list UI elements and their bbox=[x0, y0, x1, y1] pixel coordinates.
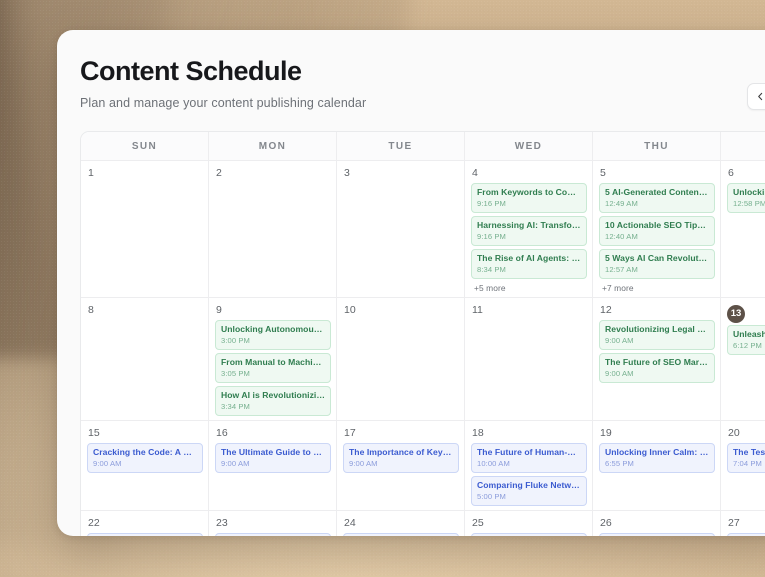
day-number: 10 bbox=[343, 303, 459, 317]
calendar-event[interactable]: Breaking Free from Bottlen...11:07 PM bbox=[471, 533, 587, 536]
header-text-group: Content Schedule Plan and manage your co… bbox=[80, 56, 366, 110]
event-time: 12:49 AM bbox=[605, 199, 709, 209]
calendar-day-cell-6[interactable]: 6Unlocking the Power of AI12:58 PM bbox=[721, 161, 765, 297]
calendar-event[interactable]: The Power of Multi-Target ...2:06 AM bbox=[599, 533, 715, 536]
day-number: 11 bbox=[471, 303, 587, 317]
calendar-day-cell-3[interactable]: 3 bbox=[337, 161, 465, 297]
day-events: The Future of Human-AI C...10:00 AMCompa… bbox=[471, 443, 587, 506]
calendar-weekday-header: SUNMONTUEWEDTHUFRISAT bbox=[81, 132, 765, 161]
calendar-event[interactable]: The Future of SEO Marketi...9:00 AM bbox=[599, 353, 715, 383]
event-title: Unlocking the Power of AI bbox=[733, 187, 765, 198]
calendar-day-cell-19[interactable]: 19Unlocking Inner Calm: How...6:55 PM bbox=[593, 421, 721, 510]
event-title: From Keywords to Context:... bbox=[477, 187, 581, 198]
calendar-day-cell-26[interactable]: 26The Power of Multi-Target ...2:06 AM bbox=[593, 511, 721, 536]
calendar-day-cell-18[interactable]: 18The Future of Human-AI C...10:00 AMCom… bbox=[465, 421, 593, 510]
weekday-header-fri: FRI bbox=[721, 132, 765, 160]
weekday-header-mon: MON bbox=[209, 132, 337, 160]
event-title: Cracking the Code: A Step... bbox=[93, 447, 197, 458]
calendar-event[interactable]: Unleashing the Future6:12 PM bbox=[727, 325, 765, 355]
day-number: 16 bbox=[215, 426, 331, 440]
calendar-day-cell-23[interactable]: 23Unraveling the Mystery of ...1:00 PM bbox=[209, 511, 337, 536]
day-number: 20 bbox=[727, 426, 765, 440]
day-events: 5 AI-Generated Content Ed...12:49 AM10 A… bbox=[599, 183, 715, 279]
day-events: The Importance of Keywor...9:00 AM bbox=[343, 443, 459, 473]
calendar-day-cell-10[interactable]: 10 bbox=[337, 298, 465, 420]
calendar-week-row: 1234From Keywords to Context:...9:16 PMH… bbox=[81, 161, 765, 298]
prev-month-button[interactable] bbox=[747, 83, 765, 110]
event-title: Harnessing AI: Transform Y... bbox=[477, 220, 581, 231]
event-title: 5 Ways AI Can Revolutioniz... bbox=[605, 253, 709, 264]
event-time: 9:16 PM bbox=[477, 232, 581, 242]
calendar-day-cell-4[interactable]: 4From Keywords to Context:...9:16 PMHarn… bbox=[465, 161, 593, 297]
event-title: The Test Pyramid bbox=[733, 447, 765, 458]
calendar-day-cell-24[interactable]: 2410 Essential SEO Metrics t...3:00 AM bbox=[337, 511, 465, 536]
chevron-left-icon bbox=[756, 92, 765, 101]
day-events: Revolutionizing Legal Work...9:00 AMThe … bbox=[599, 320, 715, 383]
calendar-event[interactable]: 5 Ways AI Can Revolutioniz...12:57 AM bbox=[599, 249, 715, 279]
day-events: Unlocking Inner Calm: How...6:55 PM bbox=[599, 443, 715, 473]
content-schedule-card: Content Schedule Plan and manage your co… bbox=[57, 30, 765, 536]
calendar-day-cell-12[interactable]: 12Revolutionizing Legal Work...9:00 AMTh… bbox=[593, 298, 721, 420]
event-title: The Importance of Keywor... bbox=[349, 447, 453, 458]
weekday-header-tue: TUE bbox=[337, 132, 465, 160]
event-time: 7:04 PM bbox=[733, 459, 765, 469]
event-time: 9:00 AM bbox=[93, 459, 197, 469]
event-title: Unlocking Autonomous Pot... bbox=[221, 324, 325, 335]
calendar-event[interactable]: 10 Essential SEO Metrics t...3:00 AM bbox=[343, 533, 459, 536]
day-number: 23 bbox=[215, 516, 331, 530]
more-events-link[interactable]: +5 more bbox=[471, 283, 587, 293]
day-number: 17 bbox=[343, 426, 459, 440]
day-events: Navigating the AI Marketin...9:00 AM bbox=[87, 533, 203, 536]
event-title: How AI is Revolutionizing V... bbox=[221, 390, 325, 401]
calendar-event[interactable]: The Importance of Keywor...9:00 AM bbox=[343, 443, 459, 473]
calendar-event[interactable]: The Test Pyramid7:04 PM bbox=[727, 443, 765, 473]
day-events: Unraveling the Mystery of ...1:00 PM bbox=[215, 533, 331, 536]
card-inner: Content Schedule Plan and manage your co… bbox=[57, 30, 765, 536]
more-events-link[interactable]: +7 more bbox=[599, 283, 715, 293]
calendar-day-cell-25[interactable]: 25Breaking Free from Bottlen...11:07 PM bbox=[465, 511, 593, 536]
calendar-day-cell-17[interactable]: 17The Importance of Keywor...9:00 AM bbox=[337, 421, 465, 510]
card-header: Content Schedule Plan and manage your co… bbox=[80, 56, 765, 110]
calendar-weeks: 1234From Keywords to Context:...9:16 PMH… bbox=[81, 161, 765, 536]
event-title: The Future of Human-AI C... bbox=[477, 447, 581, 458]
event-time: 9:00 AM bbox=[605, 336, 709, 346]
event-time: 9:00 AM bbox=[221, 459, 325, 469]
calendar-event[interactable]: 5 AI-Generated Content Ed...12:49 AM bbox=[599, 183, 715, 213]
event-title: The Rise of AI Agents: Red... bbox=[477, 253, 581, 264]
calendar-day-cell-27[interactable]: 27The Dark Side of AI12:58 AM bbox=[721, 511, 765, 536]
day-number: 27 bbox=[727, 516, 765, 530]
day-number: 1 bbox=[87, 166, 203, 180]
calendar-event[interactable]: Comparing Fluke Networks...5:00 PM bbox=[471, 476, 587, 506]
calendar-day-cell-5[interactable]: 55 AI-Generated Content Ed...12:49 AM10 … bbox=[593, 161, 721, 297]
event-time: 9:00 AM bbox=[349, 459, 453, 469]
calendar-event[interactable]: How AI is Revolutionizing V...3:34 PM bbox=[215, 386, 331, 416]
event-title: The Ultimate Guide to Calc... bbox=[221, 447, 325, 458]
calendar-week-row: 22Navigating the AI Marketin...9:00 AM23… bbox=[81, 511, 765, 536]
calendar-nav-buttons bbox=[747, 83, 765, 110]
day-number: 12 bbox=[599, 303, 715, 317]
day-number: 8 bbox=[87, 303, 203, 317]
day-events: Unlocking Autonomous Pot...3:00 PMFrom M… bbox=[215, 320, 331, 416]
calendar-day-cell-11[interactable]: 11 bbox=[465, 298, 593, 420]
calendar-event[interactable]: The Dark Side of AI12:58 AM bbox=[727, 533, 765, 536]
calendar-grid: SUNMONTUEWEDTHUFRISAT 1234From Keywords … bbox=[80, 131, 765, 536]
calendar-event[interactable]: Cracking the Code: A Step...9:00 AM bbox=[87, 443, 203, 473]
day-number: 2 bbox=[215, 166, 331, 180]
day-events: Cracking the Code: A Step...9:00 AM bbox=[87, 443, 203, 473]
calendar-day-cell-13[interactable]: 13Unleashing the Future6:12 PM bbox=[721, 298, 765, 420]
weekday-header-wed: WED bbox=[465, 132, 593, 160]
page-subtitle: Plan and manage your content publishing … bbox=[80, 96, 366, 110]
day-events: From Keywords to Context:...9:16 PMHarne… bbox=[471, 183, 587, 279]
event-title: Unleashing the Future bbox=[733, 329, 765, 340]
day-number: 19 bbox=[599, 426, 715, 440]
calendar-event[interactable]: Unlocking Inner Calm: How...6:55 PM bbox=[599, 443, 715, 473]
event-time: 6:55 PM bbox=[605, 459, 709, 469]
day-number: 9 bbox=[215, 303, 331, 317]
day-events: Breaking Free from Bottlen...11:07 PM bbox=[471, 533, 587, 536]
calendar-event[interactable]: The Ultimate Guide to Calc...9:00 AM bbox=[215, 443, 331, 473]
event-time: 12:40 AM bbox=[605, 232, 709, 242]
day-number: 5 bbox=[599, 166, 715, 180]
calendar-event[interactable]: Unlocking Autonomous Pot...3:00 PM bbox=[215, 320, 331, 350]
day-events: The Ultimate Guide to Calc...9:00 AM bbox=[215, 443, 331, 473]
day-number: 22 bbox=[87, 516, 203, 530]
event-time: 12:57 AM bbox=[605, 265, 709, 275]
day-number: 4 bbox=[471, 166, 587, 180]
calendar-day-cell-9[interactable]: 9Unlocking Autonomous Pot...3:00 PMFrom … bbox=[209, 298, 337, 420]
weekday-header-thu: THU bbox=[593, 132, 721, 160]
day-number: 3 bbox=[343, 166, 459, 180]
day-events: 10 Essential SEO Metrics t...3:00 AM bbox=[343, 533, 459, 536]
day-number: 6 bbox=[727, 166, 765, 180]
calendar-event[interactable]: From Keywords to Context:...9:16 PM bbox=[471, 183, 587, 213]
event-time: 6:12 PM bbox=[733, 341, 765, 351]
event-title: 5 AI-Generated Content Ed... bbox=[605, 187, 709, 198]
event-title: 10 Actionable SEO Tips for ... bbox=[605, 220, 709, 231]
event-title: From Manual to Machine: T... bbox=[221, 357, 325, 368]
event-time: 3:00 PM bbox=[221, 336, 325, 346]
day-number: 24 bbox=[343, 516, 459, 530]
calendar-day-cell-15[interactable]: 15Cracking the Code: A Step...9:00 AM bbox=[81, 421, 209, 510]
event-title: Comparing Fluke Networks... bbox=[477, 480, 581, 491]
day-events: Unleashing the Future6:12 PM bbox=[727, 325, 765, 355]
page-title: Content Schedule bbox=[80, 56, 366, 87]
calendar-event[interactable]: Unraveling the Mystery of ...1:00 PM bbox=[215, 533, 331, 536]
calendar-event[interactable]: The Future of Human-AI C...10:00 AM bbox=[471, 443, 587, 473]
event-time: 10:00 AM bbox=[477, 459, 581, 469]
calendar-day-cell-16[interactable]: 16The Ultimate Guide to Calc...9:00 AM bbox=[209, 421, 337, 510]
day-events: Unlocking the Power of AI12:58 PM bbox=[727, 183, 765, 213]
day-number: 25 bbox=[471, 516, 587, 530]
calendar-event[interactable]: Unlocking the Power of AI12:58 PM bbox=[727, 183, 765, 213]
calendar-week-row: 15Cracking the Code: A Step...9:00 AM16T… bbox=[81, 421, 765, 511]
event-time: 9:00 AM bbox=[605, 369, 709, 379]
calendar-day-cell-1[interactable]: 1 bbox=[81, 161, 209, 297]
calendar-event[interactable]: Harnessing AI: Transform Y...9:16 PM bbox=[471, 216, 587, 246]
event-time: 9:16 PM bbox=[477, 199, 581, 209]
event-time: 5:00 PM bbox=[477, 492, 581, 502]
day-events: The Test Pyramid7:04 PM bbox=[727, 443, 765, 473]
calendar-event[interactable]: 10 Actionable SEO Tips for ...12:40 AM bbox=[599, 216, 715, 246]
calendar-event[interactable]: From Manual to Machine: T...3:05 PM bbox=[215, 353, 331, 383]
weekday-header-sun: SUN bbox=[81, 132, 209, 160]
day-number: 26 bbox=[599, 516, 715, 530]
day-events: The Power of Multi-Target ...2:06 AM bbox=[599, 533, 715, 536]
calendar-day-cell-2[interactable]: 2 bbox=[209, 161, 337, 297]
event-time: 8:34 PM bbox=[477, 265, 581, 275]
calendar-event[interactable]: Navigating the AI Marketin...9:00 AM bbox=[87, 533, 203, 536]
calendar-day-cell-20[interactable]: 20The Test Pyramid7:04 PM bbox=[721, 421, 765, 510]
calendar-day-cell-22[interactable]: 22Navigating the AI Marketin...9:00 AM bbox=[81, 511, 209, 536]
day-number: 15 bbox=[87, 426, 203, 440]
event-title: Revolutionizing Legal Work... bbox=[605, 324, 709, 335]
event-time: 3:34 PM bbox=[221, 402, 325, 412]
calendar-week-row: 89Unlocking Autonomous Pot...3:00 PMFrom… bbox=[81, 298, 765, 421]
event-title: Unlocking Inner Calm: How... bbox=[605, 447, 709, 458]
calendar-event[interactable]: The Rise of AI Agents: Red...8:34 PM bbox=[471, 249, 587, 279]
calendar-event[interactable]: Revolutionizing Legal Work...9:00 AM bbox=[599, 320, 715, 350]
event-title: The Future of SEO Marketi... bbox=[605, 357, 709, 368]
calendar-day-cell-8[interactable]: 8 bbox=[81, 298, 209, 420]
event-time: 3:05 PM bbox=[221, 369, 325, 379]
day-number-today-badge: 13 bbox=[727, 305, 745, 323]
day-number: 18 bbox=[471, 426, 587, 440]
event-time: 12:58 PM bbox=[733, 199, 765, 209]
day-events: The Dark Side of AI12:58 AM bbox=[727, 533, 765, 536]
